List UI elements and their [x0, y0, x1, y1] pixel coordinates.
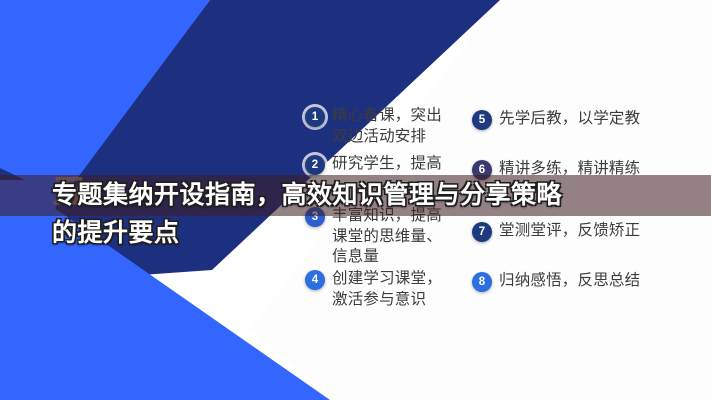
overlay-title-line-1: 专题集纳开设指南，高效知识管理与分享策略 — [52, 180, 562, 209]
list-item: 4 创建学习课堂， 激活参与意识 — [305, 268, 500, 309]
list-item: 8 归纳感悟，反思总结 — [472, 270, 711, 291]
list-item-text: 创建学习课堂， 激活参与意识 — [332, 268, 442, 309]
badge-number-2: 2 — [305, 155, 325, 175]
list-item: 1 精心备课，突出 双边活动安排 — [305, 105, 500, 146]
list-item-text: 研究学生，提高 — [332, 153, 442, 174]
overlay-title-line-2: 的提升要点 — [52, 214, 692, 252]
list-item-text: 先学后教，以学定教 — [499, 108, 640, 129]
overlay-title: 专题集纳开设指南，高效知识管理与分享策略 的提升要点 — [52, 176, 692, 252]
list-item: 2 研究学生，提高 — [305, 153, 500, 174]
poster-image: 五 1 精心备课，突出 双边活动安排 2 研究学生，提高 3 丰富知识，提高 课… — [0, 0, 711, 400]
badge-number-1: 1 — [305, 107, 325, 127]
list-item-text: 精心备课，突出 双边活动安排 — [332, 105, 442, 146]
badge-number-8: 8 — [472, 272, 492, 292]
list-item: 5 先学后教，以学定教 — [472, 108, 711, 129]
badge-number-5: 5 — [472, 110, 492, 130]
badge-number-4: 4 — [305, 270, 325, 290]
list-item-text: 归纳感悟，反思总结 — [499, 270, 640, 291]
